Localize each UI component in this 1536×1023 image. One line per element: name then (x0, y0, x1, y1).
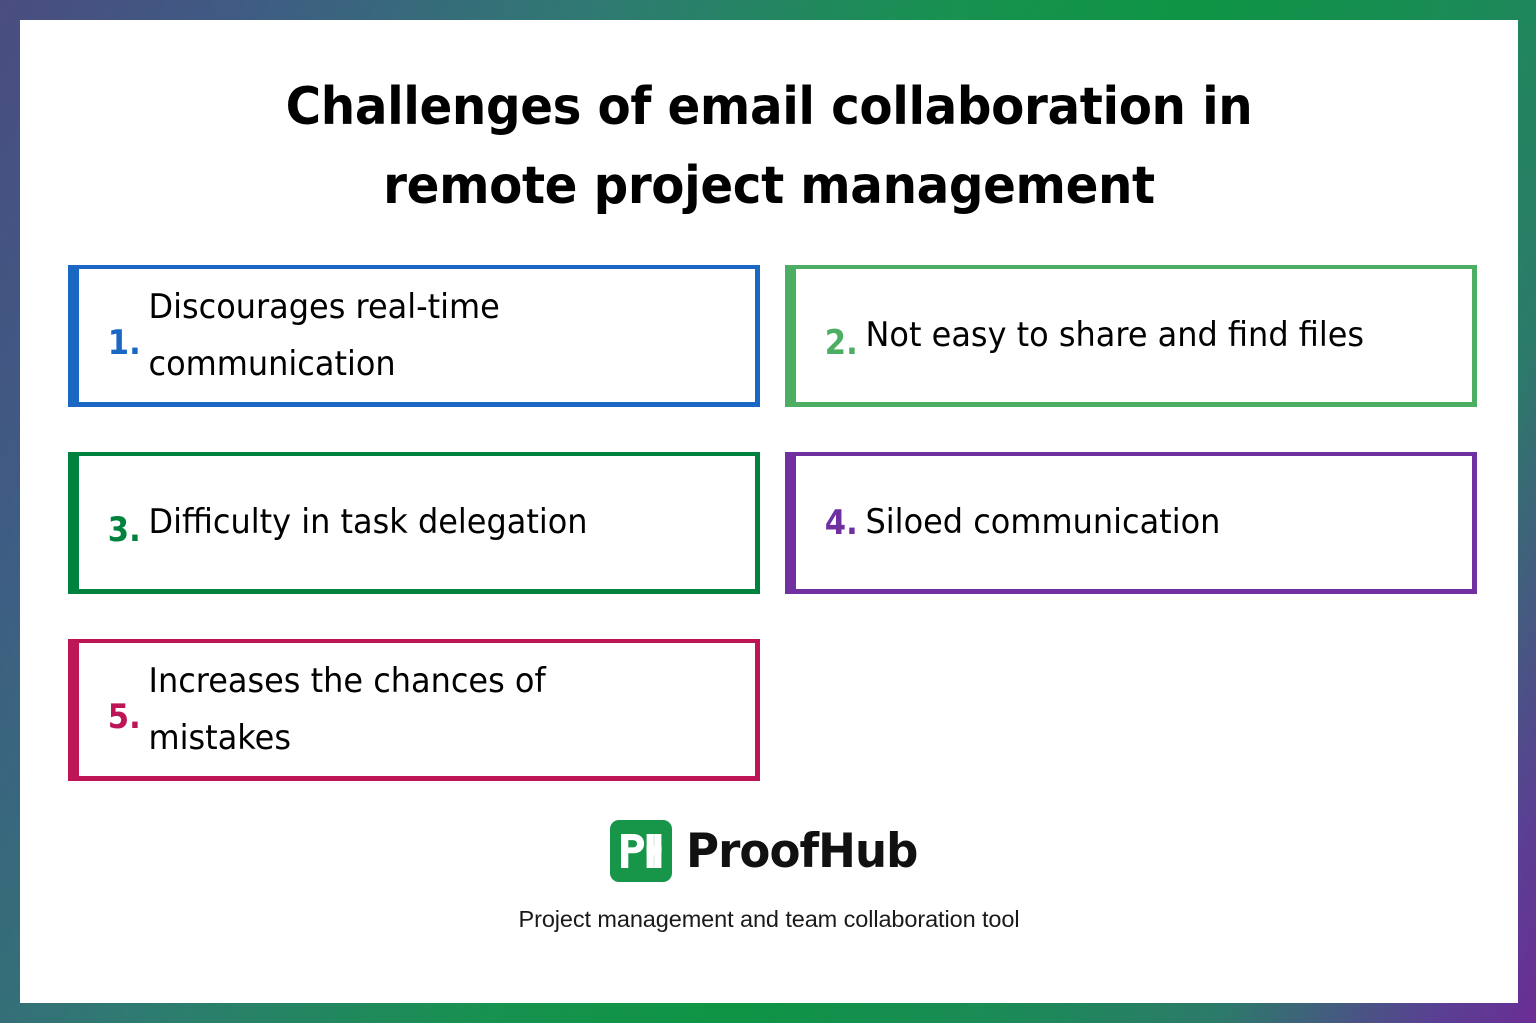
challenge-card-1: 1.Discourages real-time communication (68, 265, 760, 407)
proofhub-tagline: Project management and team collaboratio… (519, 906, 1020, 933)
challenge-card-2: 2.Not easy to share and find files (785, 265, 1477, 407)
page-title-line-1: Challenges of email collaboration in (72, 68, 1465, 147)
challenge-card-text: Siloed communication (858, 502, 1435, 543)
challenge-card-number: 2. (796, 326, 852, 360)
challenge-card-text: Not easy to share and find files (858, 307, 1435, 363)
challenge-card-number: 4. (796, 506, 852, 540)
footer-branding: ProofHub Project management and team col… (20, 820, 1518, 933)
challenge-card-text: Discourages real-time communication (141, 279, 718, 391)
page-title-line-2: remote project management (72, 147, 1465, 226)
challenge-card-text: Difficulty in task delegation (141, 494, 718, 550)
proofhub-logo-mark-icon (610, 820, 672, 882)
proofhub-brand-name: ProofHub (686, 828, 917, 875)
challenge-card-number: 5. (79, 700, 135, 734)
challenge-card-number: 1. (79, 326, 135, 360)
challenge-card-list: 1.Discourages real-time communication2.N… (68, 265, 1478, 781)
gradient-border-frame: Challenges of email collaboration in rem… (0, 0, 1536, 1023)
infographic-page: Challenges of email collaboration in rem… (20, 20, 1518, 1003)
challenge-card-4: 4.Siloed communication (785, 452, 1477, 594)
challenge-card-3: 3.Difficulty in task delegation (68, 452, 760, 594)
page-title: Challenges of email collaboration in rem… (72, 68, 1465, 226)
challenge-card-text: Increases the chances of mistakes (141, 653, 718, 765)
challenge-card-5: 5.Increases the chances of mistakes (68, 639, 760, 781)
challenge-card-number: 3. (79, 513, 135, 547)
proofhub-logo[interactable]: ProofHub (610, 820, 927, 882)
